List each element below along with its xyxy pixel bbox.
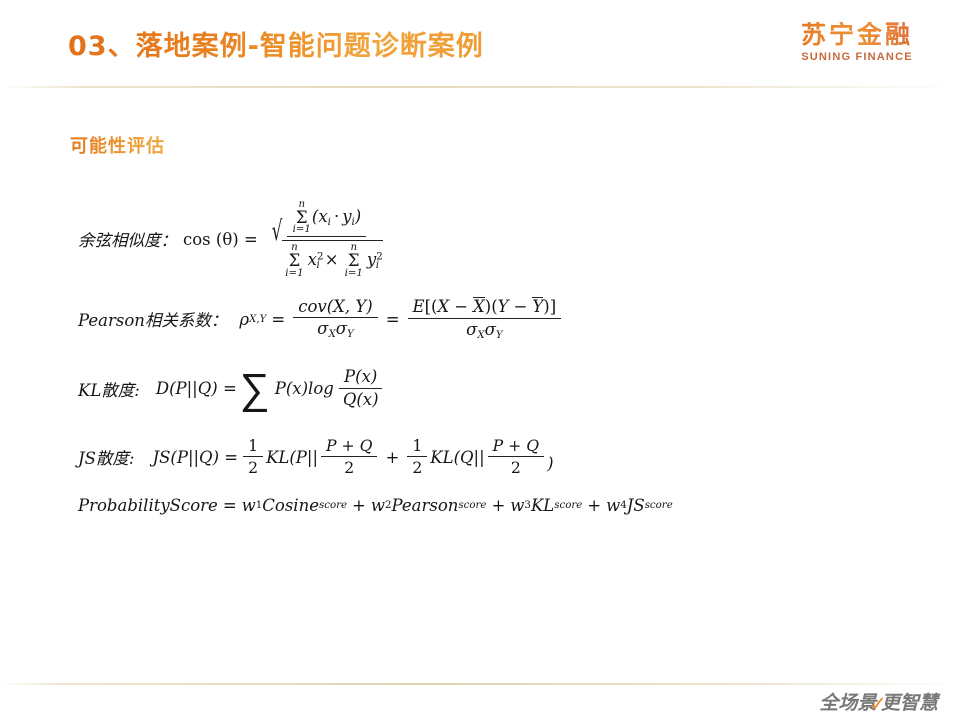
formula-kl-label: KL散度: — [78, 377, 140, 401]
formula-js-close-paren: ) — [547, 454, 553, 477]
formula-js-kl-p: KL(P|| — [266, 448, 318, 467]
formula-probability-score: ProbabilityScore = w1Cosinescore + w2Pea… — [78, 496, 673, 515]
formula-kl-body: P(x)log — [275, 379, 334, 398]
formula-cosine-label: 余弦相似度： — [78, 227, 177, 251]
formula-js-half-2: 1 2 — [407, 437, 427, 477]
formula-kl-divergence: KL散度: D(P||Q) = ∑ P(x)log P(x) Q(x) — [78, 368, 387, 410]
formula-cosine-numerator: n Σ i=1 (xi·yi) — [287, 200, 367, 237]
formula-pearson-fraction-1: cov(X, Y) σXσY — [293, 298, 378, 342]
slide-canvas: 03、落地案例-智能问题诊断案例 苏宁金融 SUNING FINANCE 可能性… — [0, 0, 960, 720]
footer-slogan-left: 全场景 — [819, 688, 876, 715]
formula-pearson-label: Pearson相关系数： — [78, 307, 227, 331]
formula-js-lhs: JS(P||Q) = — [152, 448, 238, 467]
formula-js-divergence: JS散度: JS(P||Q) = 1 2 KL(P|| P + Q 2 + 1 … — [78, 437, 554, 477]
summation-symbol-icon: n Σ i=1 — [293, 200, 311, 235]
formula-kl-lhs: D(P||Q) = — [156, 379, 237, 398]
formula-cosine-lhs: cos (θ) = — [183, 230, 262, 249]
check-icon: ✓ — [869, 692, 887, 716]
formula-pearson-correlation: Pearson相关系数： ρX,Y = cov(X, Y) σXσY = E[(… — [78, 297, 564, 342]
summation-symbol-icon: ∑ — [240, 376, 270, 402]
formula-pearson-rho: ρ — [239, 310, 249, 329]
square-root-icon: √ n Σ i=1 x2i× n Σ i=1 y2i — [272, 239, 383, 278]
formula-kl-fraction: P(x) Q(x) — [338, 368, 384, 410]
formula-js-kl-q: KL(Q|| — [430, 448, 484, 467]
formula-js-half-1: 1 2 — [243, 437, 263, 477]
formula-pearson-fraction-2: E[(X−X)(Y−Y)] σXσY — [408, 297, 562, 342]
footer-slogan: 全场景 ✓ 更智慧 — [819, 688, 938, 715]
formula-js-label: JS散度: — [78, 445, 134, 469]
formula-score-lhs: ProbabilityScore — [78, 496, 218, 515]
footer-slogan-right: 更智慧 — [881, 688, 938, 715]
summation-symbol-icon: n Σ i=1 — [285, 243, 303, 278]
footer-divider — [0, 683, 960, 685]
formula-cosine-similarity: 余弦相似度： cos (θ) = n Σ i=1 (xi·yi) √ — [78, 200, 391, 278]
summation-symbol-icon: n Σ i=1 — [345, 243, 363, 278]
formula-list: 余弦相似度： cos (θ) = n Σ i=1 (xi·yi) √ — [0, 0, 960, 720]
formula-cosine-fraction: n Σ i=1 (xi·yi) √ n Σ i=1 x2i× — [265, 200, 388, 278]
formula-pearson-expectation: E[(X−X)(Y−Y)] — [408, 297, 562, 319]
formula-js-mixture-2: P + Q 2 — [488, 437, 544, 477]
formula-js-mixture-1: P + Q 2 — [321, 437, 377, 477]
formula-cosine-denominator: √ n Σ i=1 x2i× n Σ i=1 y2i — [265, 237, 388, 278]
